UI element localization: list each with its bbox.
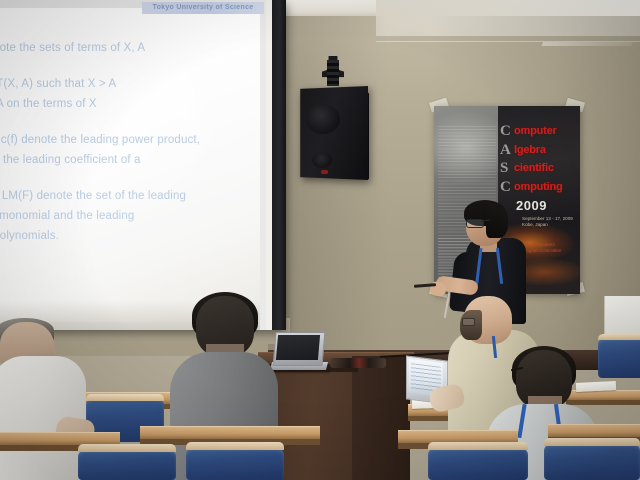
screen-support-column: [272, 0, 286, 330]
desk: [140, 426, 320, 440]
chair: [186, 448, 284, 480]
lecture-hall-photo: Tokyo University of Science denote the s…: [0, 0, 640, 480]
slide-content: denote the sets of terms of X, A on T(X,…: [0, 38, 260, 262]
poster-year: 2009: [516, 198, 547, 213]
presenter-hair: [486, 204, 508, 238]
wall-speaker-icon: [300, 86, 368, 180]
poster-title-word: lgebra: [514, 141, 578, 160]
slide-paragraph: denote the sets of terms of X, A: [0, 38, 260, 58]
poster-date-line: Kobe, Japan: [522, 222, 578, 228]
speaker-power-led: [321, 170, 328, 174]
speaker-woofer-icon: [306, 104, 340, 134]
desk-equipment: [330, 358, 386, 368]
desk: [548, 424, 640, 438]
speaker-tweeter-icon: [312, 152, 332, 168]
slide-line: of polynomials.: [0, 226, 260, 246]
slide-paragraph: (f), lc(f) denote the leading power prod…: [0, 130, 260, 170]
projection-screen: Tokyo University of Science denote the s…: [0, 0, 284, 330]
poster-committee-label: Program Committee: [522, 248, 576, 254]
chair: [544, 444, 640, 480]
poster-date-block: September 13 - 17, 2009 Kobe, Japan: [522, 216, 578, 228]
chair-top-rail: [78, 444, 176, 452]
chair: [598, 338, 640, 378]
slide-paragraph: (F), LM(F) denote the set of the leading…: [0, 186, 260, 246]
chair: [428, 448, 528, 480]
chair-top-rail: [86, 394, 164, 401]
poster-title: omputer lgebra cientific omputing: [514, 122, 578, 196]
slide-line: (f), lc(f) denote the leading power prod…: [0, 130, 260, 150]
poster-title-word: cientific: [514, 159, 578, 178]
chair-top-rail: [186, 442, 284, 450]
chair-top-rail: [544, 438, 640, 446]
slide-line: X₀,A on the terms of X: [0, 94, 260, 114]
slide-line: denote the sets of terms of X, A: [0, 38, 260, 58]
slide-header-banner-text: Tokyo University of Science: [142, 2, 264, 14]
lectern-panel: [352, 356, 410, 480]
chair: [78, 450, 176, 480]
slide-line: ing monomial and the leading: [0, 206, 260, 226]
poster-committee-block: Invited Speakers Program Committee: [522, 242, 576, 254]
presenter-laptop-screen: [276, 335, 320, 360]
chair-top-rail: [598, 334, 640, 340]
slide-line: and the leading coefficient of a: [0, 150, 260, 170]
chair-top-rail: [428, 442, 528, 450]
desk-edge: [566, 400, 640, 405]
slide-line: on T(X, A) such that X > A: [0, 74, 260, 94]
slide-paragraph: on T(X, A) such that X > A X₀,A on the t…: [0, 74, 260, 114]
speaker-mount-arm: [327, 60, 339, 86]
poster-title-word: omputing: [514, 178, 578, 197]
slide-line: (F), LM(F) denote the set of the leading: [0, 186, 260, 206]
poster-title-word: omputer: [514, 122, 578, 141]
glasses-icon: [462, 318, 475, 326]
slide-header-banner: Tokyo University of Science: [142, 2, 264, 14]
